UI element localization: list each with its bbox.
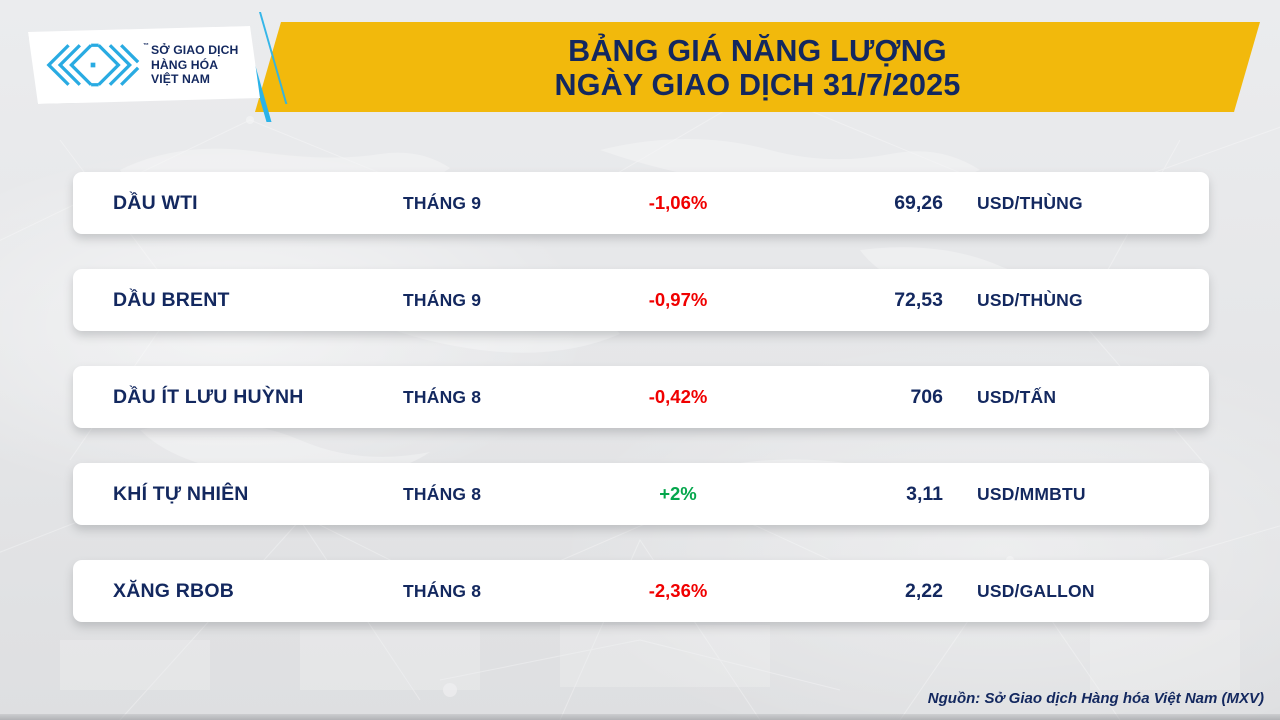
price-unit: USD/MMBTU (943, 484, 1086, 505)
price-rows: DẦU WTITHÁNG 9-1,06%69,26USD/THÙNGDẦU BR… (73, 172, 1209, 622)
energy-price-board: ™ SỞ GIAO DỊCH HÀNG HÓA VIỆT NAM BẢNG GI… (0, 0, 1280, 720)
table-row[interactable]: XĂNG RBOBTHÁNG 8-2,36%2,22USD/GALLON (73, 560, 1209, 622)
commodity-name: DẦU BRENT (73, 289, 403, 312)
price-unit: USD/THÙNG (943, 193, 1083, 214)
table-row[interactable]: DẦU BRENTTHÁNG 9-0,97%72,53USD/THÙNG (73, 269, 1209, 331)
price-value: 72,53 (778, 289, 943, 312)
commodity-name: KHÍ TỰ NHIÊN (73, 483, 403, 506)
bottom-edge (0, 714, 1280, 720)
price-unit: USD/TẤN (943, 387, 1056, 408)
contract-month: THÁNG 8 (403, 581, 578, 602)
table-row[interactable]: KHÍ TỰ NHIÊNTHÁNG 8+2%3,11USD/MMBTU (73, 463, 1209, 525)
table-row[interactable]: DẦU WTITHÁNG 9-1,06%69,26USD/THÙNG (73, 172, 1209, 234)
header: ™ SỞ GIAO DỊCH HÀNG HÓA VIỆT NAM BẢNG GI… (0, 0, 1280, 125)
logo-line-1: SỞ GIAO DỊCH (151, 43, 238, 57)
trademark-symbol: ™ (143, 43, 149, 49)
logo-card: ™ SỞ GIAO DỊCH HÀNG HÓA VIỆT NAM (28, 26, 260, 104)
contract-month: THÁNG 9 (403, 290, 578, 311)
price-value: 706 (778, 386, 943, 409)
contract-month: THÁNG 8 (403, 484, 578, 505)
price-unit: USD/GALLON (943, 581, 1095, 602)
title-line-1: BẢNG GIÁ NĂNG LƯỢNG (568, 35, 947, 68)
price-value: 69,26 (778, 192, 943, 215)
contract-month: THÁNG 9 (403, 193, 578, 214)
price-change-percent: +2% (578, 483, 778, 505)
source-note: Nguồn: Sở Giao dịch Hàng hóa Việt Nam (M… (928, 690, 1264, 707)
commodity-name: DẦU ÍT LƯU HUỲNH (73, 386, 403, 409)
mxv-chevron-logo-icon (46, 42, 140, 88)
price-change-percent: -1,06% (578, 192, 778, 214)
table-row[interactable]: DẦU ÍT LƯU HUỲNHTHÁNG 8-0,42%706USD/TẤN (73, 366, 1209, 428)
page-title: BẢNG GIÁ NĂNG LƯỢNG NGÀY GIAO DỊCH 31/7/… (255, 24, 1260, 112)
price-unit: USD/THÙNG (943, 290, 1083, 311)
price-change-percent: -0,97% (578, 289, 778, 311)
commodity-name: DẦU WTI (73, 192, 403, 215)
price-value: 3,11 (778, 483, 943, 506)
price-change-percent: -2,36% (578, 580, 778, 602)
logo-line-3: VIỆT NAM (151, 72, 238, 86)
contract-month: THÁNG 8 (403, 387, 578, 408)
logo-wordmark: SỞ GIAO DỊCH HÀNG HÓA VIỆT NAM (151, 43, 238, 86)
commodity-name: XĂNG RBOB (73, 580, 403, 603)
logo-line-2: HÀNG HÓA (151, 58, 238, 72)
price-value: 2,22 (778, 580, 943, 603)
price-change-percent: -0,42% (578, 386, 778, 408)
title-line-2: NGÀY GIAO DỊCH 31/7/2025 (555, 69, 961, 102)
